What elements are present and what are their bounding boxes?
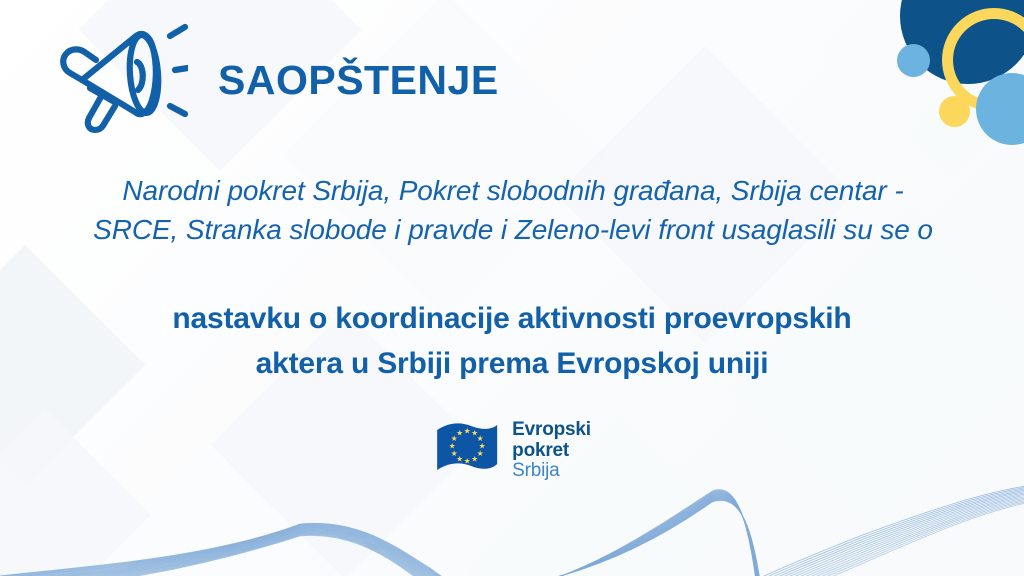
headline-line: nastavku o koordinacije aktivnosti proev… bbox=[62, 296, 962, 341]
lede-line: SRCE, Stranka slobode i pravde i Zeleno-… bbox=[48, 211, 978, 250]
wave-lines-decoration bbox=[0, 406, 1024, 576]
headline-line: aktera u Srbiji prema Evropskoj uniji bbox=[62, 341, 962, 386]
lede-paragraph: Narodni pokret Srbija, Pokret slobodnih … bbox=[48, 172, 978, 249]
page-title: SAOPŠTENJE bbox=[218, 56, 499, 101]
announcement-poster: SAOPŠTENJE Narodni pokret Srbija, Pokret… bbox=[0, 0, 1024, 576]
megaphone-icon bbox=[58, 22, 188, 134]
headline: nastavku o koordinacije aktivnosti proev… bbox=[62, 296, 962, 386]
poster-header: SAOPŠTENJE bbox=[58, 22, 499, 134]
lede-line: Narodni pokret Srbija, Pokret slobodnih … bbox=[48, 172, 978, 211]
circle-decoration-cluster bbox=[874, 0, 1024, 175]
yellow-dot-decoration bbox=[939, 96, 970, 127]
light-blue-circle-decoration bbox=[897, 44, 930, 77]
